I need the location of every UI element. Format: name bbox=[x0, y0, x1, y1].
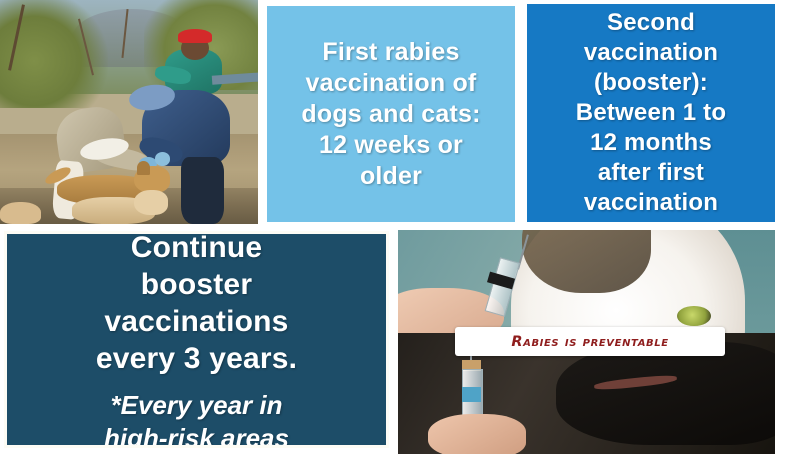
rabies-vaccination-infographic: First rabies vaccination of dogs and cat… bbox=[0, 0, 787, 454]
syringe-vaccine-liquid bbox=[462, 387, 481, 403]
dog-snout bbox=[556, 342, 775, 445]
booster-schedule-subline: *Every year in high-risk areas bbox=[104, 389, 289, 449]
booster-schedule-panel: Continue booster vaccinations every 3 ye… bbox=[4, 231, 389, 448]
dog-vaccination-scene bbox=[0, 0, 258, 224]
second-vaccination-panel: Second vaccination (booster): Between 1 … bbox=[527, 4, 775, 222]
dog-vaccination-photo bbox=[0, 0, 258, 224]
hand-holding-syringe bbox=[428, 414, 526, 454]
dog-body bbox=[0, 202, 41, 224]
second-vaccination-headline: Second vaccination (booster): Between 1 … bbox=[576, 8, 726, 218]
red-cap bbox=[178, 29, 212, 42]
first-vaccination-headline: First rabies vaccination of dogs and cat… bbox=[301, 37, 480, 192]
first-vaccination-panel: First rabies vaccination of dogs and cat… bbox=[267, 6, 515, 222]
worker-leg bbox=[181, 157, 225, 224]
foliage-left bbox=[0, 0, 108, 108]
dog-ear bbox=[137, 161, 150, 174]
booster-schedule-headline: Continue booster vaccinations every 3 ye… bbox=[96, 231, 297, 377]
gloved-hand bbox=[155, 152, 170, 165]
caption-text: Rabies is preventable bbox=[511, 334, 668, 350]
rabies-preventable-banner: Rabies is preventable bbox=[455, 327, 725, 356]
dog-head bbox=[134, 190, 168, 215]
